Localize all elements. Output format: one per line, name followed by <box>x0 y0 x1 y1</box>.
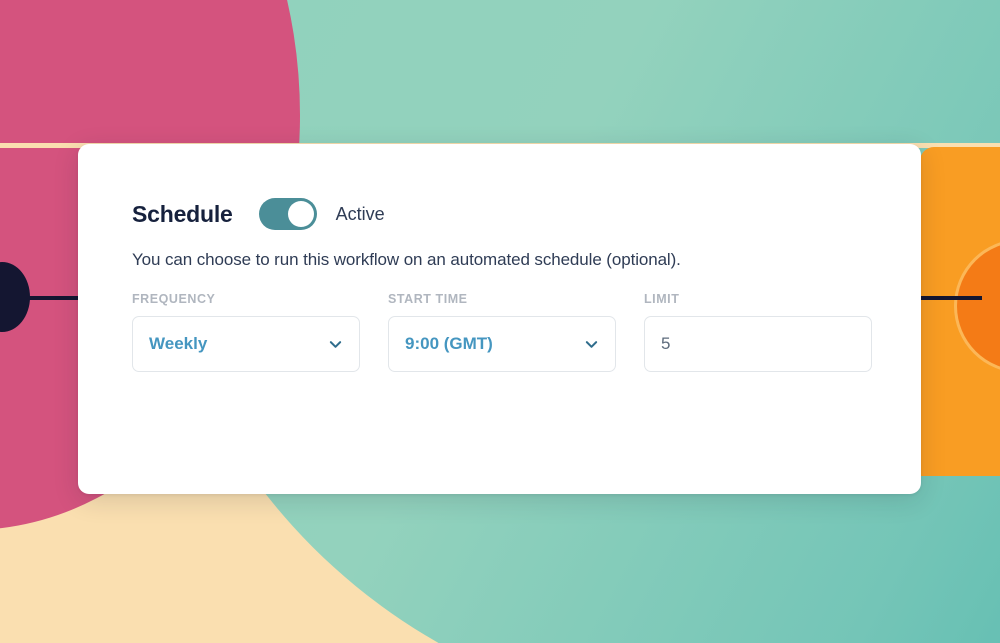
card-header: Schedule Active <box>132 196 921 232</box>
card-description: You can choose to run this workflow on a… <box>132 250 921 270</box>
page-title: Schedule <box>132 201 233 228</box>
start-time-select-value: 9:00 (GMT) <box>405 334 493 354</box>
start-time-select[interactable]: 9:00 (GMT) <box>388 316 616 372</box>
limit-input-value: 5 <box>661 334 670 354</box>
toggle-state-label: Active <box>336 204 385 225</box>
field-limit: LIMIT 5 <box>644 292 872 372</box>
field-label-limit: LIMIT <box>644 292 872 306</box>
schedule-fields: FREQUENCY Weekly START TIME 9:00 (GMT) <box>132 292 921 372</box>
schedule-card: Schedule Active You can choose to run th… <box>78 144 921 494</box>
field-frequency: FREQUENCY Weekly <box>132 292 360 372</box>
toggle-knob-icon <box>288 201 314 227</box>
frequency-select[interactable]: Weekly <box>132 316 360 372</box>
background-rule-right <box>920 296 982 300</box>
field-start-time: START TIME 9:00 (GMT) <box>388 292 616 372</box>
chevron-down-icon <box>328 337 343 352</box>
schedule-active-toggle[interactable] <box>259 198 317 230</box>
frequency-select-value: Weekly <box>149 334 207 354</box>
screen: Schedule Active You can choose to run th… <box>0 0 1000 643</box>
field-label-start-time: START TIME <box>388 292 616 306</box>
field-label-frequency: FREQUENCY <box>132 292 360 306</box>
chevron-down-icon <box>584 337 599 352</box>
limit-input[interactable]: 5 <box>644 316 872 372</box>
